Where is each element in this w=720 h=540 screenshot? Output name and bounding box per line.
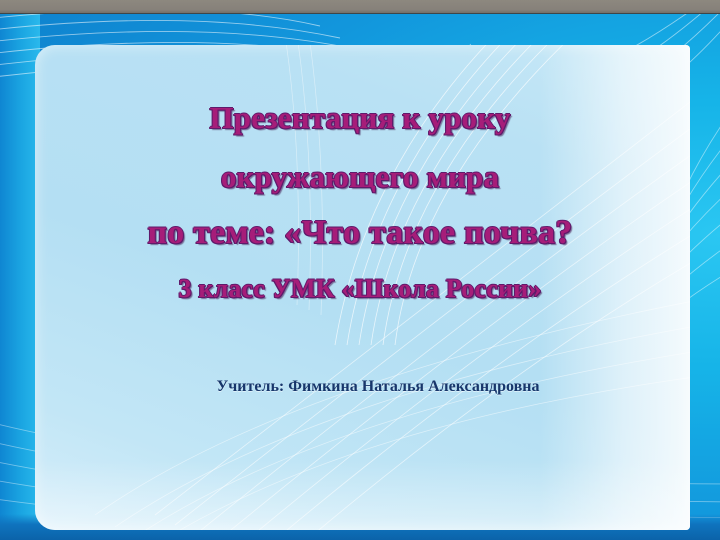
title-line-4: 3 класс УМК «Школа России» [0,274,720,304]
author-teacher-name: Учитель: Фимкина Наталья Александровна [0,378,720,396]
slide-text-content: Презентация к уроку окружающего мира по … [0,0,720,540]
presentation-slide: Презентация к уроку окружающего мира по … [0,0,720,540]
title-line-1: Презентация к уроку [0,100,720,136]
title-line-3: по теме: «Что такое почва? [0,214,720,252]
title-line-2: окружающего мира [0,159,720,195]
